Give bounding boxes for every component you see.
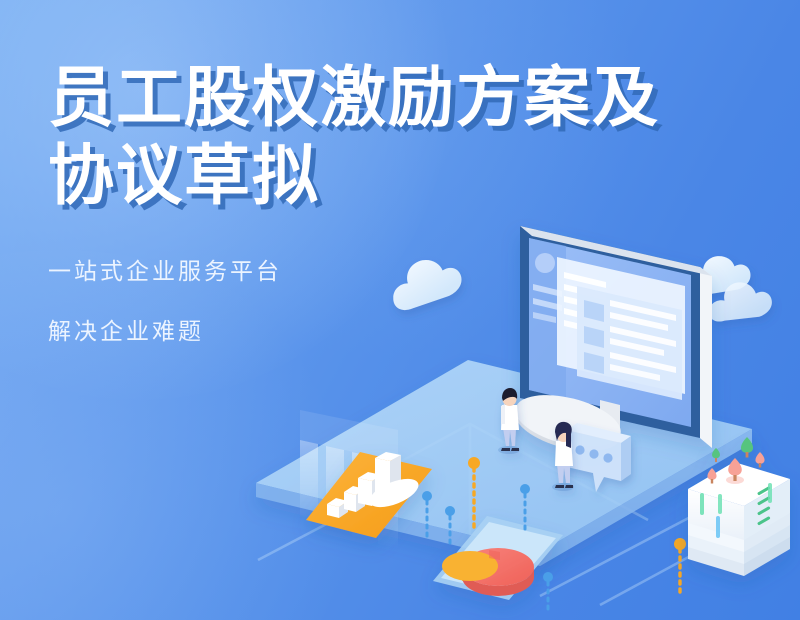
headline-block: 员工股权激励方案及 协议草拟 一站式企业服务平台 解决企业难题 <box>48 58 478 346</box>
subtitle-line-1: 一站式企业服务平台 <box>48 256 478 286</box>
promo-banner: 员工股权激励方案及 协议草拟 一站式企业服务平台 解决企业难题 <box>0 0 800 620</box>
desktop-monitor <box>510 226 712 460</box>
subtitle-line-2: 解决企业难题 <box>48 316 478 346</box>
headline-line-1: 员工股权激励方案及 <box>48 58 478 136</box>
headline-line-2: 协议草拟 <box>48 136 478 214</box>
